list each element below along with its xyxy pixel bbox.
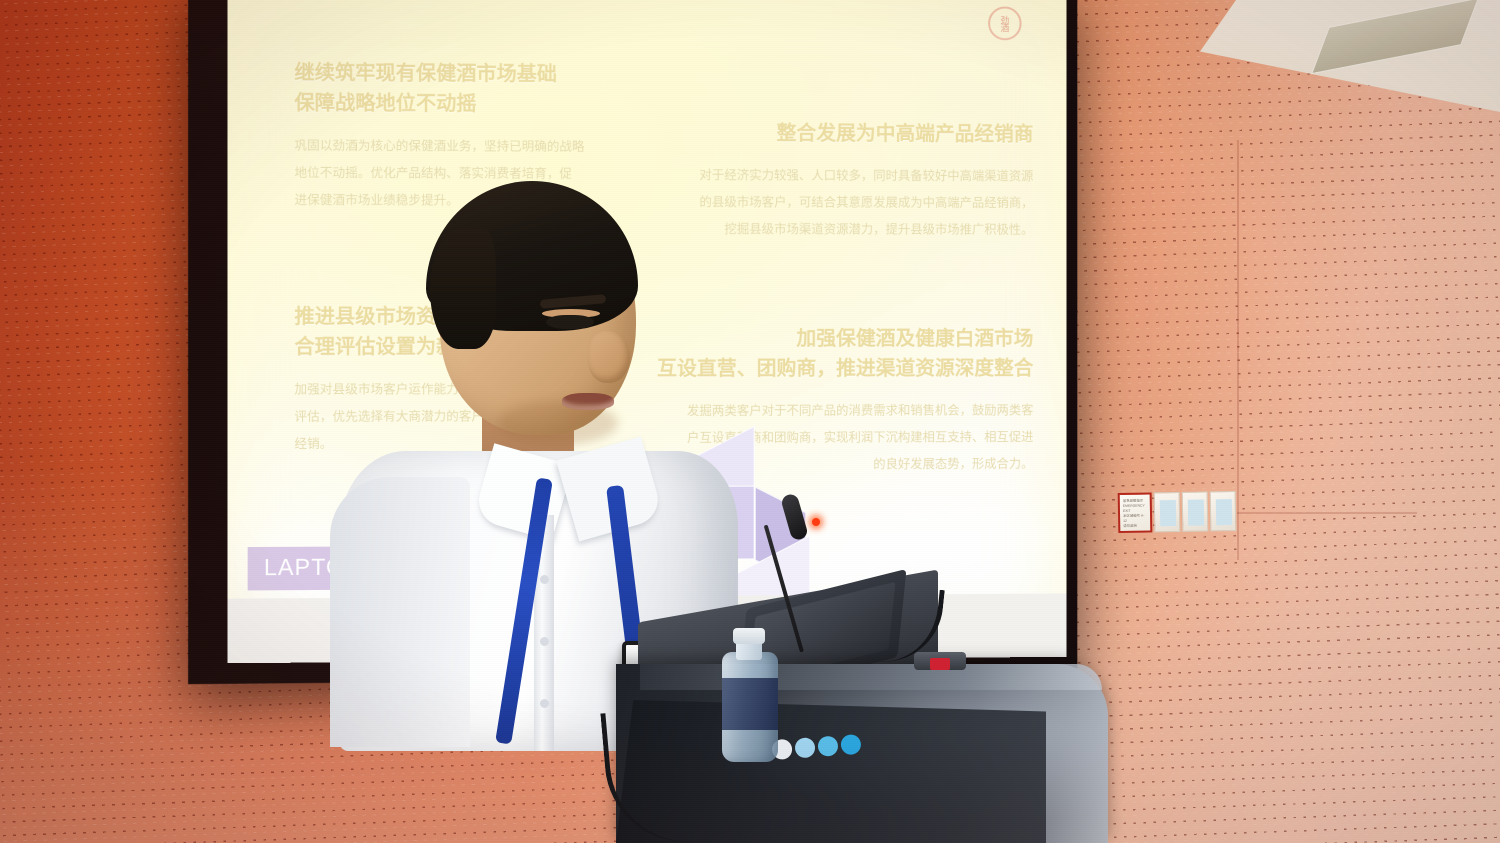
presenter-shirt-button xyxy=(540,637,549,646)
wall-info-plate-line-4: 请勿遮挡 xyxy=(1123,524,1147,529)
presenter-left-shoulder xyxy=(330,477,470,747)
switch-rocker-icon[interactable] xyxy=(1188,500,1204,526)
wall-seam-horizontal xyxy=(1237,512,1417,514)
slide-block-1-heading-line-2: 保障战略地位不动摇 xyxy=(294,88,584,120)
slide-block-3-heading-line-1: 整合发展为中高端产品经销商 xyxy=(699,118,1033,149)
podium-logo-dot-3 xyxy=(817,736,838,757)
wall-switch-plate-2[interactable] xyxy=(1182,491,1209,531)
wall-switch-plate-1[interactable] xyxy=(1154,492,1181,532)
podium-logo-dot-2 xyxy=(794,737,815,758)
wall-info-plate: 紧急疏散指示 EMERGENCY EXIT 本区域编号 A-12 请勿遮挡 xyxy=(1118,492,1153,533)
podium-logo-dot-4 xyxy=(840,734,861,755)
wall-control-plates: 紧急疏散指示 EMERGENCY EXIT 本区域编号 A-12 请勿遮挡 xyxy=(1118,491,1237,533)
wall-switch-plate-3[interactable] xyxy=(1210,491,1237,531)
podium-top-edge xyxy=(640,664,1102,690)
switch-rocker-icon[interactable] xyxy=(1216,499,1232,525)
presenter-sideburn xyxy=(430,229,496,349)
presenter-shirt-button xyxy=(540,699,549,708)
wall-info-plate-line-3: 本区域编号 A-12 xyxy=(1123,514,1147,524)
brand-stamp-icon: 劲酒 xyxy=(988,6,1021,40)
slide-title: 构建县级市场复合式渠道结构 xyxy=(292,0,992,3)
water-bottle-cap xyxy=(733,628,765,644)
presenter-shirt-button xyxy=(540,575,549,584)
presenter-chin-shadow xyxy=(498,401,618,445)
conference-room-photo: 构建县级市场复合式渠道结构 劲酒 继续筑牢现有保健酒市场基础 保障战略地位不动摇… xyxy=(0,0,1500,843)
presenter-eye xyxy=(546,315,594,329)
wall-seam-vertical xyxy=(1237,140,1239,560)
wall-info-plate-line-2: EMERGENCY EXIT xyxy=(1123,504,1147,514)
microphone-led-indicator xyxy=(812,518,820,526)
presenter-nose xyxy=(588,331,630,383)
water-bottle-label xyxy=(722,678,778,730)
microphone-base-badge xyxy=(930,658,950,670)
slide-block-1-body-line-1: 巩固以劲酒为核心的保健酒业务，坚持已明确的战略 xyxy=(294,132,584,160)
switch-rocker-icon[interactable] xyxy=(1160,500,1176,526)
slide-block-1-heading-line-1: 继续筑牢现有保健酒市场基础 xyxy=(294,58,584,90)
